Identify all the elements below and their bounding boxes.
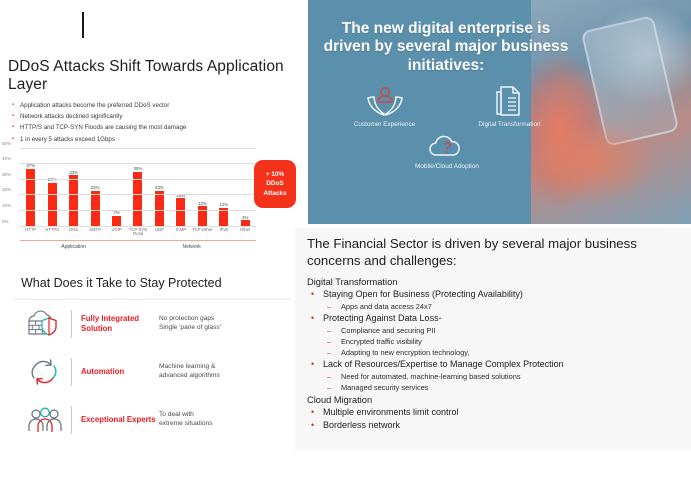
initiative-label: Digital Transformation (454, 121, 566, 128)
desc-line-1: To deal with (159, 411, 213, 420)
chart-bar-value-label: 12% (219, 202, 228, 207)
chart-gridline (20, 194, 256, 195)
financial-sub-bullet: Encrypted traffic visibility (307, 336, 679, 347)
chart-x-tick: HTTPS (41, 228, 62, 238)
chart-bar (69, 175, 78, 226)
chart-bar-value-label: 23% (155, 185, 164, 190)
blue-slide-heading: The new digital enterprise is driven by … (322, 20, 570, 75)
chart-bar-slot: 33% (63, 149, 84, 227)
desc-line-1: No protection gaps (159, 315, 221, 324)
desc-line-2: extreme situations (159, 420, 213, 429)
initiative-digital-transformation[interactable]: Digital Transformation (454, 84, 566, 128)
chart-x-tick: SMTP (84, 228, 105, 238)
list-item: HTTP/S and TCP-SYN Floods are causing th… (12, 123, 300, 134)
chart-gridline (20, 148, 256, 149)
badge-line2: DDoS (254, 180, 296, 187)
divider (71, 358, 72, 386)
initiative-label: Mobile/Cloud Adoption (391, 163, 503, 170)
chart-x-tick: TCP-Other (192, 228, 213, 238)
chart-bar-slot: 37% (20, 149, 41, 227)
chart-y-tick: 10% (2, 203, 11, 208)
ddos-bullet-list: Application attacks become the preferred… (0, 98, 300, 146)
chart-x-tick: IPv6 (213, 228, 234, 238)
chart-plot-area: 37%28%33%23%7%35%23%18%13%12%4% 0%10%20%… (20, 149, 256, 227)
chart-gridline (20, 226, 256, 227)
financial-bullet: Staying Open for Business (Protecting Av… (307, 288, 679, 301)
financial-sub-bullet: Managed security services (307, 382, 679, 393)
digital-transformation-icon (454, 84, 566, 118)
slide-ddos-attacks[interactable]: DDoS Attacks Shift Towards Application L… (0, 48, 300, 248)
initiative-mobile-cloud-adoption[interactable]: Mobile/Cloud Adoption (391, 134, 503, 170)
chart-group: Network (127, 240, 256, 250)
financial-bullet: Borderless network (307, 419, 679, 432)
chart-x-tick: UDP (149, 228, 170, 238)
protection-slide-title: What Does it Take to Stay Protected (13, 268, 291, 290)
slide-digital-enterprise[interactable]: The new digital enterprise is driven by … (308, 0, 691, 224)
chart-bar-slot: 35% (127, 149, 148, 227)
financial-bullet: Lack of Resources/Expertise to Manage Co… (307, 358, 679, 371)
protection-description: To deal with extreme situations (159, 411, 213, 429)
financial-sub-bullet: Need for automated, machine-learning bas… (307, 371, 679, 382)
chart-bar (176, 198, 185, 226)
chart-bar-slot: 23% (149, 149, 170, 227)
chart-group-labels: ApplicationNetwork (20, 240, 256, 250)
desc-line-2: advanced algorithms (159, 372, 220, 381)
financial-slide-title: The Financial Sector is driven by severa… (295, 228, 691, 270)
badge-percent: + 10% (254, 171, 296, 178)
group-underline (20, 240, 127, 241)
chart-bar-slot: 12% (213, 149, 234, 227)
financial-section-heading: Cloud Migration (307, 395, 679, 405)
group-underline (127, 240, 256, 241)
group-label: Application (20, 244, 127, 250)
chart-y-tick: 30% (2, 172, 11, 177)
list-item: 1 in every 5 attacks exceed 1Gbps (12, 134, 300, 145)
chart-gridline (20, 179, 256, 180)
chart-bar-slot: 18% (170, 149, 191, 227)
chart-bar-value-label: 4% (242, 215, 248, 220)
chart-bar-slot: 28% (41, 149, 62, 227)
chart-group: Application (20, 240, 127, 250)
chart-bar-value-label: 13% (198, 201, 207, 206)
chart-bar-value-label: 23% (91, 185, 100, 190)
financial-sub-bullet: Adapting to new encryption technology, (307, 347, 679, 358)
list-item[interactable]: Fully Integrated Solution No protection … (13, 300, 291, 348)
chart-bar (48, 183, 57, 227)
group-label: Network (127, 244, 256, 250)
list-item[interactable]: Exceptional Experts To deal with extreme… (13, 396, 291, 444)
ddos-slide-title: DDoS Attacks Shift Towards Application L… (0, 48, 300, 98)
text-cursor (82, 12, 84, 38)
list-item: Network attacks declined significantly (12, 111, 300, 122)
chart-y-tick: 40% (2, 156, 11, 161)
chart-bar (91, 191, 100, 227)
initiative-icons: Customer Experience (322, 84, 572, 170)
chart-bar-value-label: 35% (134, 166, 143, 171)
chart-gridline (20, 210, 256, 211)
financial-sub-bullet: Apps and data access 24x7 (307, 301, 679, 312)
chart-x-tick: VOIP (106, 228, 127, 238)
chart-x-axis-labels: HTTPHTTPSDNSSMTPVOIPTCP-SYN FloodUDPICMP… (20, 228, 256, 238)
financial-bullet-body: Digital TransformationStaying Open for B… (295, 270, 691, 432)
chart-x-tick: DNS (63, 228, 84, 238)
divider (71, 310, 72, 338)
status-badge: + 10% DDoS Attacks (254, 160, 296, 208)
slide-canvas: DDoS Attacks Shift Towards Application L… (0, 0, 691, 500)
financial-section-heading: Digital Transformation (307, 277, 679, 287)
chart-y-tick: 50% (2, 141, 11, 146)
badge-line3: Attacks (254, 190, 296, 197)
protection-description: No protection gaps Single 'pane of glass… (159, 315, 221, 333)
slide-financial-sector[interactable]: The Financial Sector is driven by severa… (295, 228, 691, 450)
divider (71, 406, 72, 434)
financial-sub-bullet: Compliance and securing PII (307, 325, 679, 336)
chart-y-tick: 20% (2, 187, 11, 192)
protection-description: Machine learning & advanced algorithms (159, 363, 220, 381)
chart-bar-slot: 23% (84, 149, 105, 227)
chart-x-tick: Other (235, 228, 256, 238)
slide-stay-protected[interactable]: What Does it Take to Stay Protected (13, 268, 291, 448)
list-item[interactable]: Automation Machine learning & advanced a… (13, 348, 291, 396)
desc-line-2: Single 'pane of glass' (159, 324, 221, 333)
chart-bar-slot: 4% (235, 149, 256, 227)
chart-bar (133, 172, 142, 227)
financial-bullet: Multiple environments limit control (307, 406, 679, 419)
chart-bar-value-label: 33% (69, 170, 78, 175)
chart-bar (26, 169, 35, 227)
chart-bar-slot: 7% (106, 149, 127, 227)
chart-bar (155, 191, 164, 227)
list-item: Application attacks become the preferred… (12, 100, 300, 111)
people-group-icon (23, 405, 67, 435)
automation-cycle-icon (23, 357, 67, 387)
chart-gridline (20, 163, 256, 164)
protection-heading: Exceptional Experts (81, 415, 159, 425)
chart-x-tick: TCP-SYN Flood (127, 228, 148, 238)
financial-bullet: Protecting Against Data Loss- (307, 312, 679, 325)
initiative-customer-experience[interactable]: Customer Experience (329, 84, 441, 128)
protection-heading: Automation (81, 367, 159, 377)
chart-bars: 37%28%33%23%7%35%23%18%13%12%4% (20, 149, 256, 227)
chart-y-tick: 0% (2, 219, 9, 224)
chart-x-tick: ICMP (170, 228, 191, 238)
protection-heading: Fully Integrated Solution (81, 314, 159, 334)
mobile-cloud-icon (391, 134, 503, 160)
chart-x-tick: HTTP (20, 228, 41, 238)
desc-line-1: Machine learning & (159, 363, 220, 372)
firewall-shield-icon (23, 309, 67, 339)
customer-experience-icon (329, 84, 441, 118)
chart-bar-slot: 13% (192, 149, 213, 227)
initiative-label: Customer Experience (329, 121, 441, 128)
